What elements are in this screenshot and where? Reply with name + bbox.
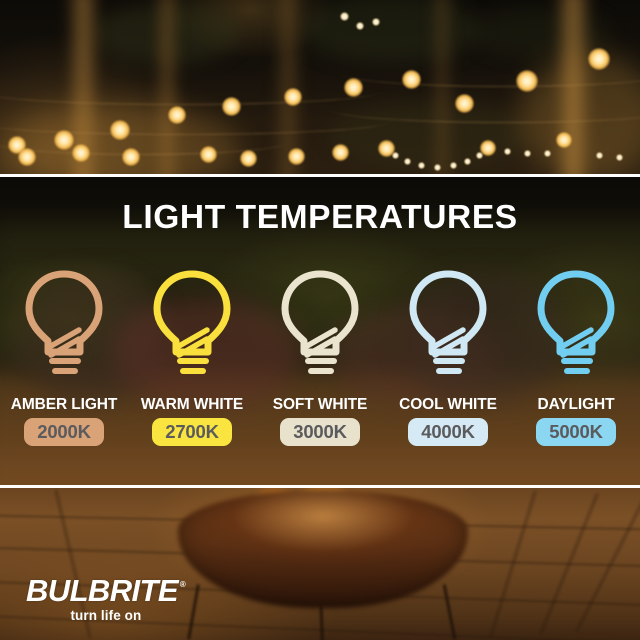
mini-string-light: [392, 152, 399, 159]
light-bulb-icon: [22, 268, 106, 380]
mini-string-light: [544, 150, 551, 157]
bulb-cell-soft-white: [256, 268, 384, 380]
temperature-name: DAYLIGHT: [538, 396, 615, 413]
light-bulb-icon: [534, 268, 618, 380]
string-light-bulb: [332, 144, 349, 161]
bulb-icon-row: [0, 268, 640, 380]
mini-string-light: [616, 154, 623, 161]
string-light-bulb: [222, 97, 241, 116]
kelvin-badge: 3000K: [280, 418, 360, 446]
string-light-bulb: [556, 132, 572, 148]
string-light-bulb: [18, 148, 36, 166]
temperature-name: SOFT WHITE: [273, 396, 368, 413]
bulb-cell-daylight: [512, 268, 640, 380]
foliage-blob: [300, 0, 480, 64]
string-light-bulb: [168, 106, 186, 124]
bulb-cell-warm-white: [128, 268, 256, 380]
logo-wordmark: BULBRITE: [26, 575, 178, 607]
light-bulb-icon: [406, 268, 490, 380]
bulb-cell-amber-light: [0, 268, 128, 380]
mini-string-light: [340, 12, 349, 21]
kelvin-badge: 4000K: [408, 418, 488, 446]
bulb-cell-cool-white: [384, 268, 512, 380]
string-light-bulb: [402, 70, 421, 89]
string-light-bulb: [288, 148, 305, 165]
string-light-bulb: [455, 94, 474, 113]
label-cell-daylight: DAYLIGHT 5000K: [512, 396, 640, 446]
mini-string-light: [356, 22, 364, 30]
mini-string-light: [418, 162, 425, 169]
string-light-bulb: [72, 144, 90, 162]
kelvin-badge: 5000K: [536, 418, 616, 446]
temperature-name: AMBER LIGHT: [11, 396, 118, 413]
logo-wordmark-row: BULBRITE ®: [26, 575, 186, 607]
top-photo-string-lights: [0, 0, 640, 176]
label-cell-soft-white: SOFT WHITE 3000K: [256, 396, 384, 446]
page-title: LIGHT TEMPERATURES: [0, 199, 640, 237]
kelvin-badge: 2000K: [24, 418, 104, 446]
mini-string-light: [476, 152, 483, 159]
mini-string-light: [524, 150, 531, 157]
label-cell-warm-white: WARM WHITE 2700K: [128, 396, 256, 446]
mini-string-light: [450, 162, 457, 169]
mini-string-light: [404, 158, 411, 165]
mini-string-light: [504, 148, 511, 155]
tree-trunk: [432, 0, 452, 176]
string-light-bulb: [588, 48, 610, 70]
string-light-bulb: [516, 70, 538, 92]
string-light-bulb: [54, 130, 74, 150]
string-light-bulb: [240, 150, 257, 167]
string-light-wire: [0, 78, 380, 105]
string-light-bulb: [284, 88, 302, 106]
string-light-bulb: [110, 120, 130, 140]
string-light-bulb: [122, 148, 140, 166]
mini-string-light: [596, 152, 603, 159]
deck-board-seam: [490, 491, 536, 637]
fire-pit-leg: [443, 584, 457, 640]
temperature-name: WARM WHITE: [141, 396, 243, 413]
light-bulb-icon: [278, 268, 362, 380]
fire-pit-leg: [187, 584, 200, 640]
mini-string-light: [434, 164, 441, 171]
mini-string-light: [372, 18, 380, 26]
string-light-bulb: [200, 146, 217, 163]
light-bulb-icon: [150, 268, 234, 380]
label-cell-amber-light: AMBER LIGHT 2000K: [0, 396, 128, 446]
temperature-name: COOL WHITE: [399, 396, 497, 413]
brand-logo: BULBRITE ® turn life on: [26, 575, 186, 623]
kelvin-badge: 2700K: [152, 418, 232, 446]
light-temperatures-infographic: LIGHT TEMPERATURES: [0, 0, 640, 640]
logo-tagline: turn life on: [26, 608, 186, 623]
mini-string-light: [464, 158, 471, 165]
registered-trademark-icon: ®: [180, 580, 186, 590]
label-cell-cool-white: COOL WHITE 4000K: [384, 396, 512, 446]
temperature-labels-row: AMBER LIGHT 2000K WARM WHITE 2700K SOFT …: [0, 396, 640, 446]
string-light-bulb: [344, 78, 363, 97]
